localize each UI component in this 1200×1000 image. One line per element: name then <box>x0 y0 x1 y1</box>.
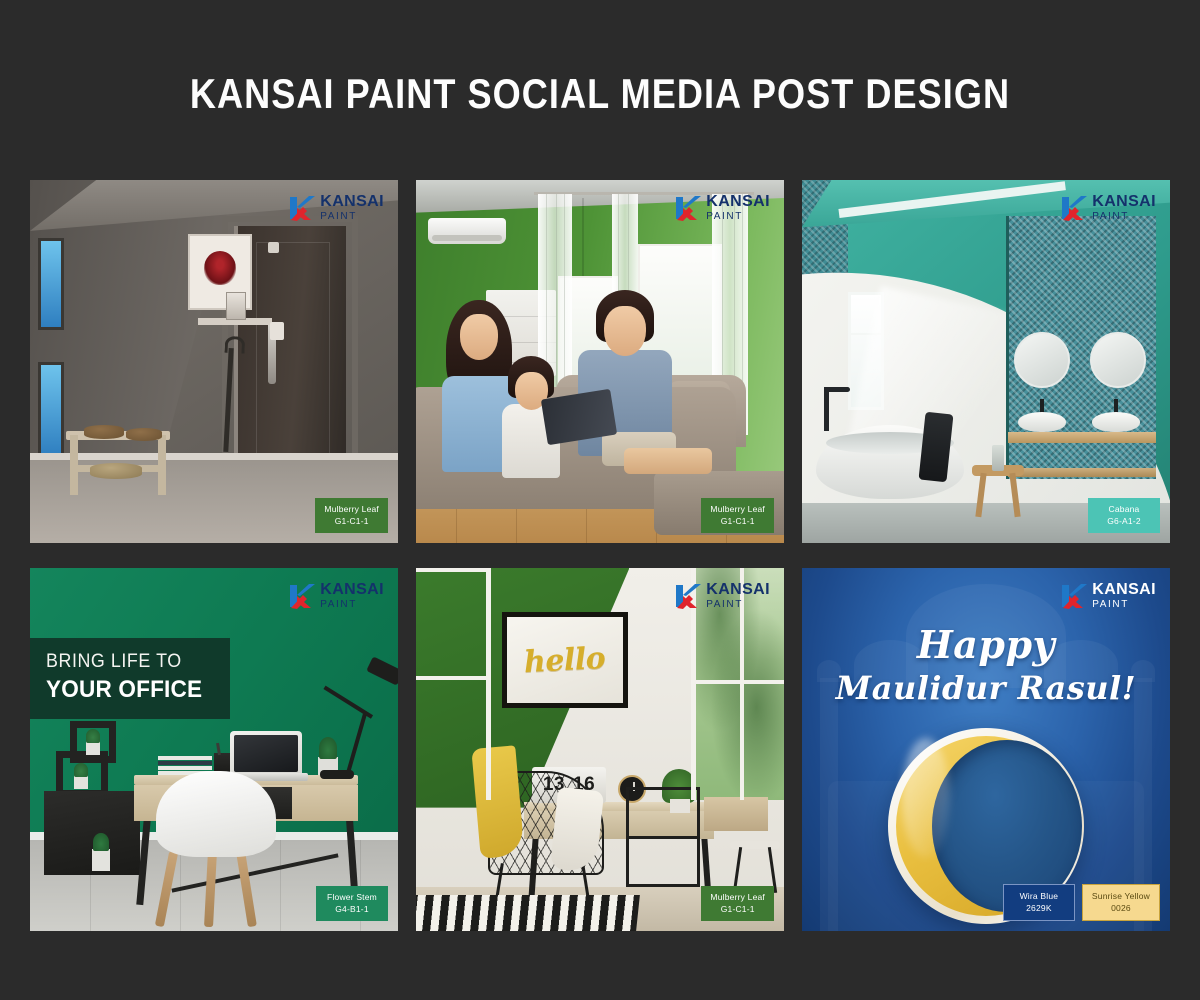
soap-bottle <box>992 445 1004 471</box>
logo-kansai-text: KANSAI <box>320 194 384 210</box>
greeting-line-1: Happy <box>802 622 1170 667</box>
shelf-lantern <box>226 292 246 320</box>
logo-kansai-text: KANSAI <box>1092 582 1156 598</box>
greeting-line-2: Maulidur Rasul! <box>802 669 1170 707</box>
stool-leg-left <box>975 473 986 517</box>
color-swatch[interactable]: Mulberry Leaf G1-C1-1 <box>701 498 774 533</box>
round-mirror-right <box>1090 332 1146 388</box>
logo-wordmark: KANSAI PAINT <box>1092 194 1156 222</box>
card-bathroom[interactable]: KANSAI PAINT Cabana G6-A1-2 <box>802 180 1170 543</box>
color-swatch[interactable]: Mulberry Leaf G1-C1-1 <box>701 886 774 921</box>
headline-panel: BRING LIFE TO YOUR OFFICE <box>30 638 230 719</box>
hello-poster-frame: hello <box>502 612 628 708</box>
color-swatch-group: Wira Blue 2629K Sunrise Yellow 0026 <box>1003 884 1160 921</box>
card-hello-room[interactable]: hello 13 16 <box>416 568 784 931</box>
side-shelf-unit <box>626 787 700 887</box>
swatch-code: G1-C1-1 <box>710 903 765 915</box>
logo-wordmark: KANSAI PAINT <box>1092 582 1156 610</box>
logo-wordmark: KANSAI PAINT <box>320 194 384 222</box>
shelf-plant-upper <box>86 741 100 755</box>
shelf-plant-lower <box>74 775 88 789</box>
bench-leg-left <box>70 435 78 495</box>
color-swatch-group: Mulberry Leaf G1-C1-1 <box>701 886 774 921</box>
card-office[interactable]: BRING LIFE TO YOUR OFFICE <box>30 568 398 931</box>
swatch-name: Flower Stem <box>327 892 377 902</box>
kansai-paint-logo: KANSAI PAINT <box>289 194 384 222</box>
color-swatch[interactable]: Wira Blue 2629K <box>1003 884 1075 921</box>
color-swatch-group: Mulberry Leaf G1-C1-1 <box>701 498 774 533</box>
kansai-paint-logo: KANSAI PAINT <box>1061 582 1156 610</box>
kansai-k-icon <box>1061 583 1087 609</box>
swatch-code: G6-A1-2 <box>1097 515 1151 527</box>
vessel-basin-right <box>1092 412 1140 432</box>
light-switch-icon <box>270 322 284 340</box>
logo-paint-text: PAINT <box>320 212 384 222</box>
basket-three <box>90 463 142 479</box>
page-title: KANSAI PAINT SOCIAL MEDIA POST DESIGN <box>84 70 1116 118</box>
kansai-k-icon <box>1061 195 1087 221</box>
legs <box>624 448 712 474</box>
logo-paint-text: PAINT <box>1092 600 1156 610</box>
headline-line-2: YOUR OFFICE <box>46 676 204 704</box>
bath-tap <box>824 387 829 431</box>
logo-kansai-text: KANSAI <box>320 582 384 598</box>
swatch-name: Cabana <box>1109 504 1140 514</box>
basket-two <box>126 428 162 441</box>
window-mullion-right <box>692 680 784 684</box>
swatch-name: Mulberry Leaf <box>324 504 379 514</box>
bench-leg-right <box>158 435 166 495</box>
color-swatch-group: Mulberry Leaf G1-C1-1 <box>315 498 388 533</box>
window-lower <box>38 362 64 458</box>
logo-kansai-text: KANSAI <box>1092 194 1156 210</box>
window-upper <box>38 238 64 330</box>
logo-wordmark: KANSAI PAINT <box>320 582 384 610</box>
smoke-sensor-icon <box>268 242 279 253</box>
round-mirror-left <box>1014 332 1070 388</box>
cabinet-plant <box>92 849 110 871</box>
greeting-text: Happy Maulidur Rasul! <box>802 622 1170 707</box>
swatch-name: Sunrise Yellow <box>1092 891 1150 901</box>
stool-leg-right <box>1009 473 1020 517</box>
kansai-k-icon <box>675 583 701 609</box>
logo-kansai-text: KANSAI <box>706 582 770 598</box>
swatch-code: 0026 <box>1092 902 1150 914</box>
kansai-paint-logo: KANSAI PAINT <box>1061 194 1156 222</box>
striped-rug <box>416 895 640 931</box>
logo-wordmark: KANSAI PAINT <box>706 582 770 610</box>
logo-paint-text: PAINT <box>320 600 384 610</box>
window-mullion-left <box>416 676 490 680</box>
moon-highlight <box>902 738 950 858</box>
poster-mat: hello <box>507 617 623 703</box>
swatch-name: Mulberry Leaf <box>710 504 765 514</box>
swatch-code: G4-B1-1 <box>325 903 379 915</box>
window-frame-left-edge <box>486 568 491 800</box>
color-swatch-group: Cabana G6-A1-2 <box>1088 498 1160 533</box>
vessel-basin-left <box>1018 412 1066 432</box>
color-swatch-group: Flower Stem G4-B1-1 <box>316 886 388 921</box>
post-grid: KANSAI PAINT Mulberry Leaf G1-C1-1 <box>30 180 1170 931</box>
wooden-stool <box>972 465 1024 517</box>
color-swatch[interactable]: Flower Stem G4-B1-1 <box>316 886 388 921</box>
logo-kansai-text: KANSAI <box>706 194 770 210</box>
color-swatch[interactable]: Sunrise Yellow 0026 <box>1082 884 1160 921</box>
basket-one <box>84 425 124 439</box>
kansai-k-icon <box>289 195 315 221</box>
wall-art-image <box>204 251 236 285</box>
window-frame-top-left <box>416 568 490 572</box>
logo-paint-text: PAINT <box>1092 212 1156 222</box>
vanity-counter <box>1008 432 1156 443</box>
headline-line-1: BRING LIFE TO <box>46 651 204 673</box>
vanity-lower-shelf <box>1008 468 1156 477</box>
card-maulidur-rasul[interactable]: Happy Maulidur Rasul! <box>802 568 1170 931</box>
logo-paint-text: PAINT <box>706 212 770 222</box>
poster-hello-text: hello <box>524 640 607 679</box>
swatch-name: Wira Blue <box>1020 891 1059 901</box>
color-swatch[interactable]: Mulberry Leaf G1-C1-1 <box>315 498 388 533</box>
kansai-paint-logo: KANSAI PAINT <box>675 582 770 610</box>
air-conditioner <box>428 218 506 244</box>
swatch-code: G1-C1-1 <box>324 515 379 527</box>
swatch-code: 2629K <box>1013 902 1065 914</box>
laptop-screen <box>230 731 302 775</box>
swatch-code: G1-C1-1 <box>710 515 765 527</box>
color-swatch[interactable]: Cabana G6-A1-2 <box>1088 498 1160 533</box>
kansai-k-icon <box>675 195 701 221</box>
wooden-crate <box>704 797 768 831</box>
stool-top <box>730 841 780 849</box>
swatch-name: Mulberry Leaf <box>710 892 765 902</box>
kansai-k-icon <box>289 583 315 609</box>
logo-wordmark: KANSAI PAINT <box>706 194 770 222</box>
face <box>460 314 498 360</box>
logo-paint-text: PAINT <box>706 600 770 610</box>
kansai-paint-logo: KANSAI PAINT <box>289 582 384 610</box>
yellow-throw-blanket <box>471 745 524 858</box>
white-chair <box>156 771 276 857</box>
face <box>604 306 646 356</box>
card-family-livingroom[interactable]: KANSAI PAINT Mulberry Leaf G1-C1-1 <box>416 180 784 543</box>
kansai-paint-logo: KANSAI PAINT <box>675 194 770 222</box>
poster-canvas: KANSAI PAINT SOCIAL MEDIA POST DESIGN <box>0 0 1200 1000</box>
card-hallway[interactable]: KANSAI PAINT Mulberry Leaf G1-C1-1 <box>30 180 398 543</box>
